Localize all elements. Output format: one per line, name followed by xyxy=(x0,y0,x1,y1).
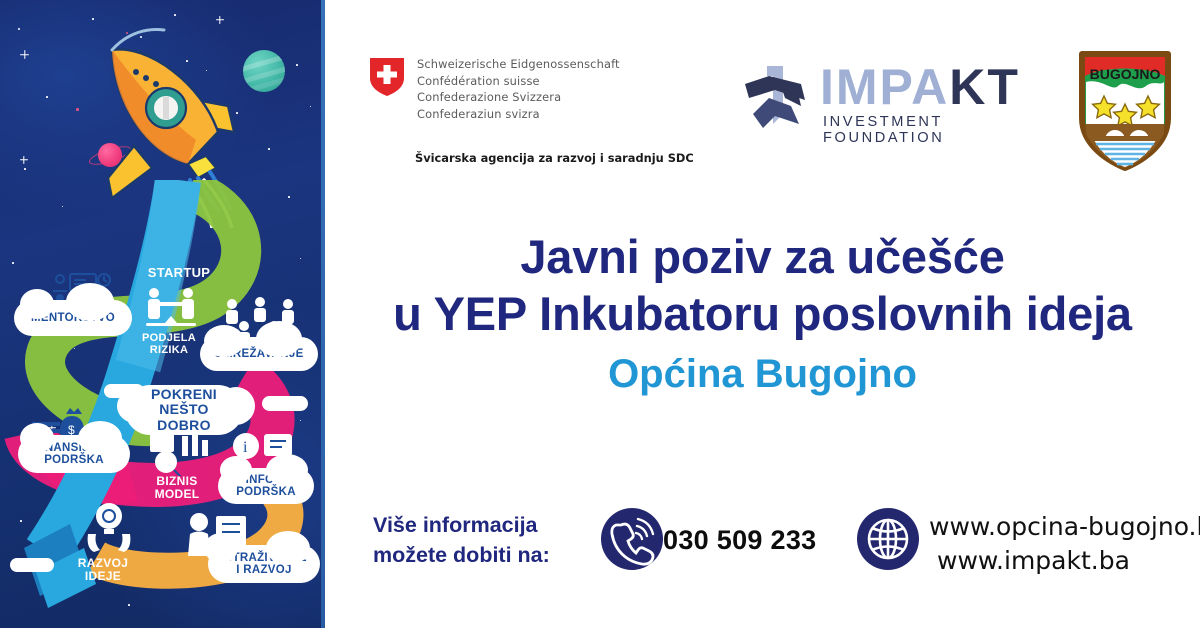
logo-row: Schweizerische Eidgenossenschaft Confédé… xyxy=(370,48,1200,163)
label-info-podrska: INFO & PODRŠKA xyxy=(218,468,314,504)
label-umrezavanje: UMREŽAVANJE xyxy=(200,337,318,371)
label-podjela-line1: PODJELA xyxy=(142,332,196,344)
swiss-confederation-logo: Schweizerische Eidgenossenschaft Confédé… xyxy=(370,56,640,166)
content-area: Schweizerische Eidgenossenschaft Confédé… xyxy=(325,0,1200,628)
swiss-line-de: Schweizerische Eidgenossenschaft xyxy=(417,56,620,73)
label-finansijska-podrska: FINANSIJSKA PODRŠKA xyxy=(18,435,130,473)
headline-line1: Javni poziv za učešće xyxy=(325,228,1200,285)
label-istrazivanje-i-razvoj: ISTRAŽIVANJE I RAZVOJ xyxy=(208,545,320,583)
label-finansijska-line1: FINANSIJSKA xyxy=(34,442,114,454)
label-finansijska-line2: PODRŠKA xyxy=(44,454,104,466)
swiss-line-rm: Confederaziun svizra xyxy=(417,106,620,123)
svg-text:i: i xyxy=(243,439,248,456)
impakt-word-light: IMPA xyxy=(820,59,949,115)
headline-line2: u YEP Inkubatoru poslovnih ideja xyxy=(325,285,1200,342)
label-razvoj-ideje: RAZVOJ IDEJE xyxy=(66,552,140,588)
impakt-subtitle: INVESTMENT FOUNDATION xyxy=(823,114,1005,146)
page-title: Javni poziv za učešće u YEP Inkubatoru p… xyxy=(325,228,1200,402)
headline-subtitle: Općina Bugojno xyxy=(325,346,1200,402)
label-info-line2: PODRŠKA xyxy=(236,486,296,498)
globe-icon[interactable] xyxy=(857,508,919,570)
more-info-line1: Više informacija xyxy=(373,513,538,537)
phone-icon[interactable] xyxy=(601,508,663,570)
label-razvoj-line2: IDEJE xyxy=(85,569,121,583)
label-mentorstvo: MENTORSTVO xyxy=(14,300,132,336)
impakt-mark-icon xyxy=(739,62,817,134)
impakt-logo: IMPAKT INVESTMENT FOUNDATION xyxy=(735,52,1005,152)
website-link-impakt[interactable]: www.impakt.ba xyxy=(929,544,1200,578)
label-biznis-line2: MODEL xyxy=(155,487,200,501)
label-biznis-model: BIZNIS MODEL xyxy=(142,470,212,506)
decor-cloud xyxy=(262,396,308,411)
more-info-label: Više informacija možete dobiti na: xyxy=(373,510,550,570)
label-pokreni-line3: DOBRO xyxy=(157,417,211,433)
label-pokreni-line2: NEŠTO xyxy=(159,401,208,417)
planet-teal-icon xyxy=(243,50,285,92)
swiss-sdc-tagline: Švicarska agencija za razvoj i saradnju … xyxy=(415,151,694,165)
swiss-line-it: Confederazione Svizzera xyxy=(417,89,620,106)
contact-row: Više informacija možete dobiti na: 030 5… xyxy=(325,498,1200,598)
decor-cloud xyxy=(10,558,54,572)
infographic-panel: $ i STARTUP xyxy=(0,0,325,628)
swiss-logo-text: Schweizerische Eidgenossenschaft Confédé… xyxy=(417,56,620,122)
impakt-wordmark: IMPAKT xyxy=(820,58,1020,116)
label-pokreni-line1: POKRENI xyxy=(151,386,217,402)
label-biznis-line1: BIZNIS xyxy=(156,474,197,488)
website-link-opcina[interactable]: www.opcina-bugojno.ba xyxy=(929,510,1200,544)
label-pokreni-nesto-dobro: POKRENI NEŠTO DOBRO xyxy=(125,385,243,435)
bugojno-crest-name: BUGOJNO xyxy=(1090,66,1161,82)
razvoj-ideje-icon xyxy=(78,500,140,554)
bugojno-coat-of-arms: BUGOJNO xyxy=(1060,48,1190,173)
label-podjela-line2: RIZIKA xyxy=(150,344,188,356)
swiss-cross-shield-icon xyxy=(370,58,404,96)
more-info-line2: možete dobiti na: xyxy=(373,543,550,567)
label-startup: STARTUP xyxy=(138,262,220,284)
label-razvoj-line1: RAZVOJ xyxy=(78,556,128,570)
label-istrazivanje-line2: I RAZVOJ xyxy=(236,564,291,576)
website-links: www.opcina-bugojno.ba www.impakt.ba xyxy=(929,510,1200,578)
label-istrazivanje-line1: ISTRAŽIVANJE xyxy=(221,552,307,564)
label-info-line1: INFO & xyxy=(246,474,287,486)
podjela-rizika-icon xyxy=(140,286,202,330)
impakt-word-dark: KT xyxy=(949,59,1020,115)
phone-number: 030 509 233 xyxy=(663,525,816,556)
swiss-line-fr: Confédération suisse xyxy=(417,73,620,90)
label-podjela-rizika: PODJELA RIZIKA xyxy=(128,325,210,365)
